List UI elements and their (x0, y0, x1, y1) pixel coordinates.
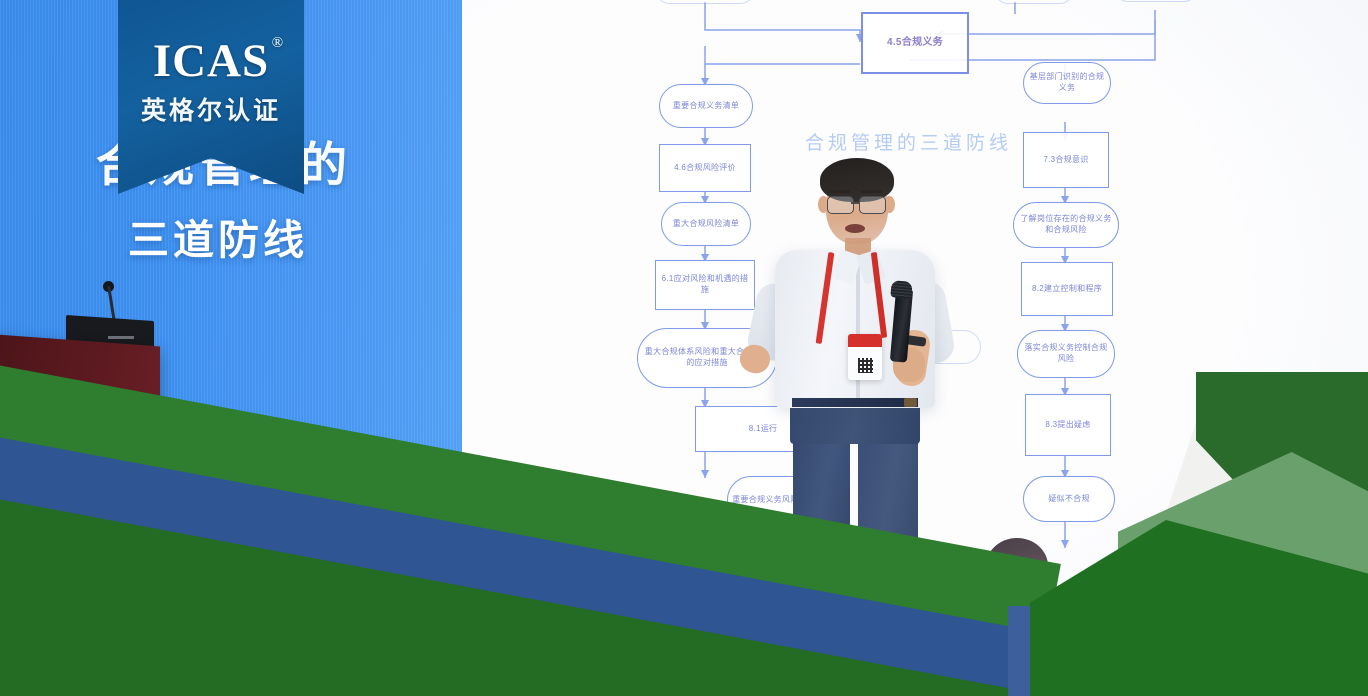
flow-node-risk-evaluation[interactable]: 4.6合规风险评价 (659, 144, 751, 192)
icas-chinese-name: 英格尔认证 (118, 91, 304, 127)
icas-wordmark-text: ICAS (153, 35, 269, 87)
microphone-head-icon (890, 280, 912, 299)
speaker-belt (792, 398, 918, 407)
slide-title: 合规管理的三道防线 (805, 128, 1012, 155)
flow-node-establish-controls[interactable]: 8.2建立控制和程序 (1021, 262, 1113, 316)
qr-code-icon (858, 358, 873, 373)
flow-node-dept-identified-obligations[interactable]: 基层部门识别的合规义务 (1023, 62, 1111, 104)
flow-node-top-mid[interactable] (995, 0, 1073, 4)
flow-node-implement-controls[interactable]: 落实合规义务控制合规风险 (1017, 330, 1115, 378)
flow-node-compliance-obligations[interactable]: 4.5合规义务 (861, 12, 969, 74)
flow-node-top-left[interactable] (655, 0, 755, 4)
speaker-mouth (845, 224, 865, 233)
conference-photo-stage: 4.5合规义务 重要合规义务清单 4.6合规风险评价 重大合规风险清单 6.1应… (0, 0, 1368, 696)
flow-node-risk-measures[interactable]: 6.1应对风险和机遇的措施 (655, 260, 755, 310)
glasses-lens-left-icon (827, 196, 854, 214)
flow-node-suspected-noncompliance[interactable]: 疑似不合规 (1023, 476, 1115, 522)
flow-node-key-obligation-list[interactable]: 重要合规义务清单 (659, 84, 753, 128)
speaker-eyebrow-left (829, 190, 850, 193)
speaker-belt-buckle (904, 398, 917, 407)
flow-node-major-risk-list[interactable]: 重大合规风险清单 (661, 202, 751, 246)
glasses-bridge-icon (851, 202, 860, 204)
registered-trademark-icon: ® (272, 36, 284, 51)
flow-node-top-right[interactable] (1115, 0, 1197, 2)
badge-header (848, 334, 882, 347)
wall-headline-line2: 三道防线 (128, 206, 308, 266)
podium-led-strip (108, 336, 134, 339)
flow-node-post-obligations-risks[interactable]: 了解岗位存在的合规义务和合规风险 (1013, 202, 1119, 248)
speaker-eyebrow-right (861, 190, 882, 193)
glasses-lens-right-icon (859, 196, 886, 214)
icas-wordmark: ICAS® (153, 38, 269, 85)
speaker-badge (848, 334, 882, 380)
flow-node-raise-concerns[interactable]: 8.3提出疑虑 (1025, 394, 1111, 456)
flow-node-compliance-awareness[interactable]: 7.3合规意识 (1023, 132, 1109, 188)
